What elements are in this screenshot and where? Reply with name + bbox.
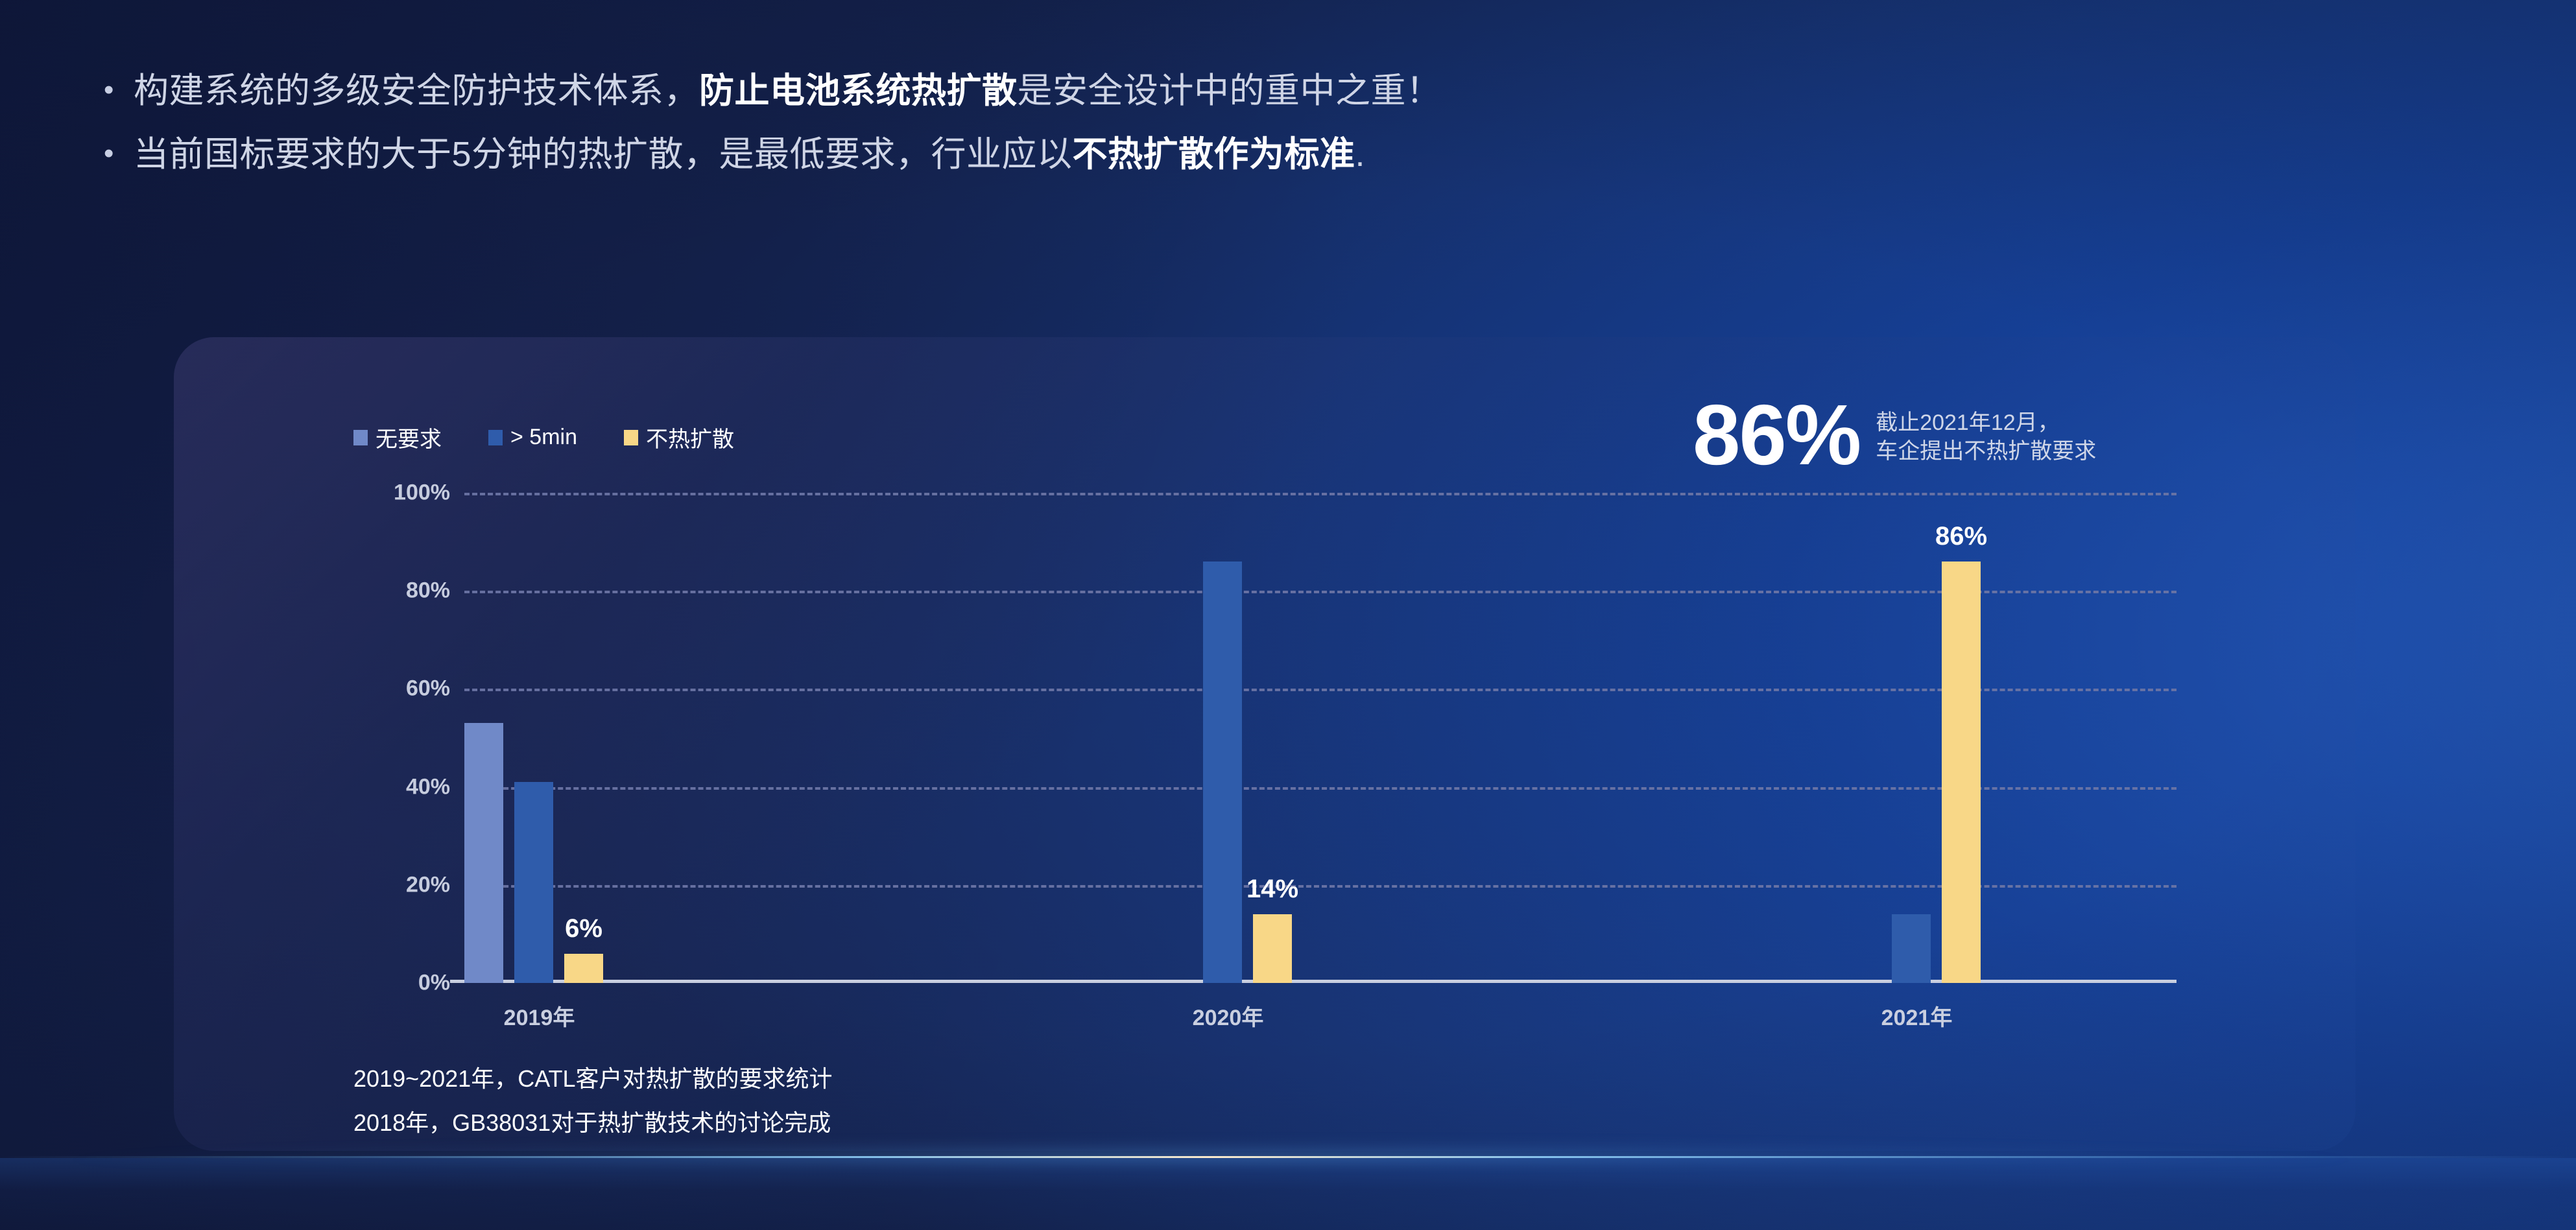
bottom-glow-fade	[0, 1158, 2576, 1229]
bar-2019年-不热扩散[interactable]: 6%	[564, 954, 603, 983]
callout-86-percent: 86% 截止2021年12月， 车企提出不热扩散要求	[1693, 397, 2096, 473]
legend-label: 无要求	[376, 421, 442, 453]
bullet-list: • 构建系统的多级安全防护技术体系，防止电池系统热扩散是安全设计中的重中之重！ …	[104, 70, 2244, 197]
y-axis-tick-label: 40%	[406, 774, 450, 799]
bullet-item-2: • 当前国标要求的大于5分钟的热扩散，是最低要求，行业应以不热扩散作为标准.	[104, 134, 2244, 175]
bar-2021年-不热扩散[interactable]: 86%	[1942, 562, 1981, 983]
bullet-1-segment-1: 构建系统的多级安全防护技术体系，	[134, 71, 699, 110]
callout-number: 86%	[1693, 397, 1860, 473]
bar-chart-plot-area: 0%20%40%60%80%100%6%2019年14%2020年86%2021…	[464, 493, 2176, 983]
bullet-marker-icon: •	[104, 134, 134, 174]
y-axis-tick-label: 100%	[394, 480, 450, 506]
bar-2020年-不热扩散[interactable]: 14%	[1253, 914, 1292, 983]
bullet-text-2: 当前国标要求的大于5分钟的热扩散，是最低要求，行业应以不热扩散作为标准.	[134, 134, 1365, 175]
legend-swatch-icon	[488, 430, 503, 445]
y-axis-tick-label: 0%	[418, 971, 450, 996]
bar-2019年-无要求[interactable]	[464, 723, 503, 983]
chart-footnotes: 2019~2021年，CATL客户对热扩散的要求统计2018年，GB38031对…	[353, 1057, 833, 1145]
x-axis-tick-label: 2019年	[504, 1000, 575, 1032]
bar-group-2019年: 6%2019年	[464, 493, 614, 983]
bottom-glow-line	[0, 1156, 2576, 1158]
legend-swatch-icon	[353, 430, 368, 445]
bullet-2-segment-1: 当前国标要求的大于5分钟的热扩散，是最低要求，行业应以	[134, 135, 1073, 174]
bar-value-label: 6%	[565, 914, 602, 943]
bar-2021年-> 5min[interactable]	[1892, 914, 1931, 983]
bar-2019年-> 5min[interactable]	[514, 782, 553, 983]
chart-legend: 无要求> 5min不热扩散	[353, 421, 781, 453]
bar-value-label: 14%	[1246, 875, 1298, 904]
bullet-2-segment-3: .	[1355, 135, 1366, 174]
legend-label: 不热扩散	[646, 421, 734, 453]
bullet-marker-icon: •	[104, 70, 134, 110]
legend-swatch-icon	[624, 430, 638, 445]
legend-item-1[interactable]: > 5min	[488, 425, 577, 450]
legend-item-2[interactable]: 不热扩散	[624, 421, 734, 453]
footnote-1: 2019~2021年，CATL客户对热扩散的要求统计	[353, 1057, 833, 1101]
y-axis-tick-label: 80%	[406, 578, 450, 604]
callout-description-line-2: 车企提出不热扩散要求	[1876, 437, 2096, 466]
callout-description-line-1: 截止2021年12月，	[1876, 408, 2096, 437]
bullet-text-1: 构建系统的多级安全防护技术体系，防止电池系统热扩散是安全设计中的重中之重！	[134, 70, 1442, 112]
y-axis-tick-label: 20%	[406, 872, 450, 897]
bullet-2-segment-2-highlight: 不热扩散作为标准	[1073, 135, 1355, 174]
legend-item-0[interactable]: 无要求	[353, 421, 442, 453]
legend-label: > 5min	[510, 425, 577, 450]
bar-group-2020年: 14%2020年	[1153, 493, 1303, 983]
bullet-1-segment-2-highlight: 防止电池系统热扩散	[699, 71, 1018, 110]
x-axis-tick-label: 2021年	[1881, 1000, 1953, 1032]
bar-value-label: 86%	[1935, 522, 1987, 551]
bar-group-2021年: 86%2021年	[1842, 493, 1992, 983]
bullet-1-segment-3: 是安全设计中的重中之重！	[1018, 71, 1442, 110]
bar-2020年-> 5min[interactable]	[1203, 562, 1242, 983]
bullet-item-1: • 构建系统的多级安全防护技术体系，防止电池系统热扩散是安全设计中的重中之重！	[104, 70, 2244, 112]
y-axis-tick-label: 60%	[406, 676, 450, 702]
callout-description: 截止2021年12月， 车企提出不热扩散要求	[1876, 408, 2096, 466]
x-axis-tick-label: 2020年	[1193, 1000, 1264, 1032]
